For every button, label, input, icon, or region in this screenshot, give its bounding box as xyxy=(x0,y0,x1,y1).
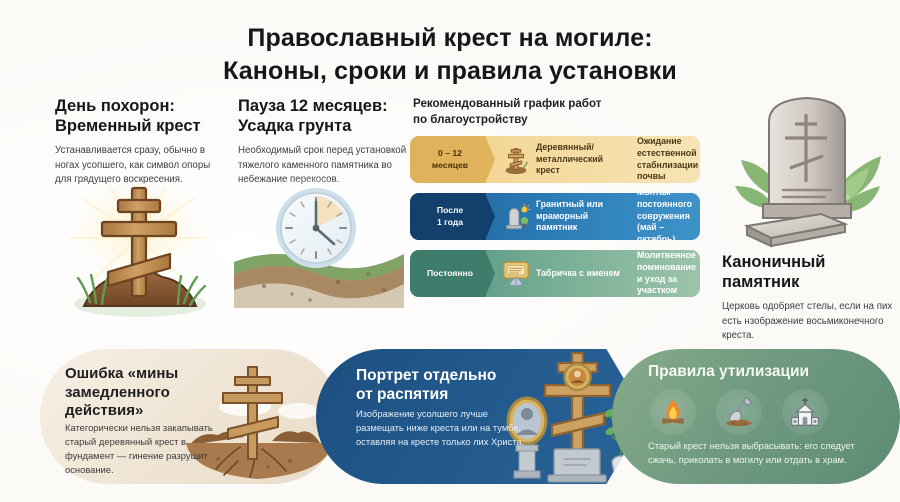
panel-blue-body: Изображение усолшего лучше размещать ниж… xyxy=(356,408,536,449)
granite-stele-illustration xyxy=(735,86,880,251)
period-line-2: месяцев xyxy=(432,160,468,170)
infographic-page: Православный крест на могиле: Каноны, ср… xyxy=(0,0,900,502)
canonical-monument-body: Церковь одобряет стелы, если на пих есть… xyxy=(722,300,894,344)
period-line-1: 0 – 12 xyxy=(438,148,462,158)
canonical-heading-line-2: памятник xyxy=(722,272,894,292)
panel-beige-title-line-3: действия» xyxy=(65,402,215,421)
period-line-2: 1 года xyxy=(437,217,463,227)
schedule-table: 0 – 12 месяцев Деревянный/ металлический xyxy=(410,136,700,307)
panel-blue-title: Портрет отдельно от распятия xyxy=(356,366,526,404)
schedule-heading: Рекомендованный график работ по благоуст… xyxy=(413,96,663,128)
settlement-heading-line-1: Пауза 12 месяцев: xyxy=(238,96,410,116)
schedule-period-badge: Постоянно xyxy=(410,250,486,297)
canonical-monument-heading: Каноничный памятник xyxy=(722,252,894,293)
funeral-day-heading-line-2: Временный крест xyxy=(55,116,220,136)
schedule-row-0-12-months: 0 – 12 месяцев Деревянный/ металлический xyxy=(410,136,700,183)
schedule-object: Гранитный или мраморный памятник xyxy=(536,193,628,240)
schedule-object: Табричка с именем xyxy=(536,250,628,297)
panel-blue-title-line-2: от распятия xyxy=(356,385,526,404)
panel-green-body: Старый крест нельзя выбрасывать: его сле… xyxy=(648,440,870,468)
church-icon xyxy=(782,389,828,435)
settlement-heading: Пауза 12 месяцев: Усадка грунта xyxy=(238,96,410,137)
clock-over-soil-illustration xyxy=(234,178,404,308)
section-soil-settlement: Пауза 12 месяцев: Усадка грунта Необходи… xyxy=(238,96,410,188)
panel-beige-title-line-1: Ошибка «мины xyxy=(65,365,215,384)
schedule-purpose: Монтаж постоянного совружения (май – окт… xyxy=(628,193,700,240)
schedule-purpose: Ожидание естественной стабнлизации почвы xyxy=(628,136,700,183)
panel-blue-title-line-1: Портрет отдельно xyxy=(356,366,526,385)
schedule-row-permanent: Постоянно Табричка с именем Молитвенное … xyxy=(410,250,700,297)
schedule-heading-line-1: Рекомендованный график работ xyxy=(413,96,663,112)
schedule-row-after-1-year: После 1 года Гранитный или мрамор xyxy=(410,193,700,240)
funeral-day-heading-line-1: День похорон: xyxy=(55,96,220,116)
panel-green-title: Правила утилизации xyxy=(648,362,878,381)
period-line-1: Постоянно xyxy=(427,268,473,279)
funeral-day-heading: День похорон: Временный крест xyxy=(55,96,220,137)
panel-beige-body: Категорически нельзя закапывать старый д… xyxy=(65,421,235,477)
panel-green-title-line-1: Правила утилизации xyxy=(648,362,878,381)
schedule-object: Деревянный/ металлический крест xyxy=(536,136,628,183)
wooden-orthodox-cross-illustration xyxy=(58,176,228,321)
disposal-icon-row xyxy=(650,388,840,436)
panel-beige-title: Ошибка «мины замедленного действия» xyxy=(65,365,215,421)
section-funeral-day: День похорон: Временный крест Устанавлив… xyxy=(55,96,220,188)
schedule-purpose: Молитвенное поминование и уход за участк… xyxy=(628,250,700,297)
section-canonical-monument: Каноничный памятник Церковь одобряет сте… xyxy=(722,252,894,344)
period-line-1: После xyxy=(437,205,463,215)
schedule-heading-line-2: по благоустройству xyxy=(413,112,663,128)
shovel-icon xyxy=(716,389,762,435)
page-title: Православный крест на могиле: Каноны, ср… xyxy=(0,22,900,88)
title-line-1: Православный крест на могиле: xyxy=(0,22,900,55)
schedule-period-badge: После 1 года xyxy=(410,193,486,240)
settlement-heading-line-2: Усадка грунта xyxy=(238,116,410,136)
campfire-icon xyxy=(650,389,696,435)
canonical-heading-line-1: Каноничный xyxy=(722,252,894,272)
schedule-period-badge: 0 – 12 месяцев xyxy=(410,136,486,183)
panel-beige-title-line-2: замедленного xyxy=(65,384,215,403)
title-line-2: Каноны, сроки и правила установки xyxy=(0,55,900,88)
